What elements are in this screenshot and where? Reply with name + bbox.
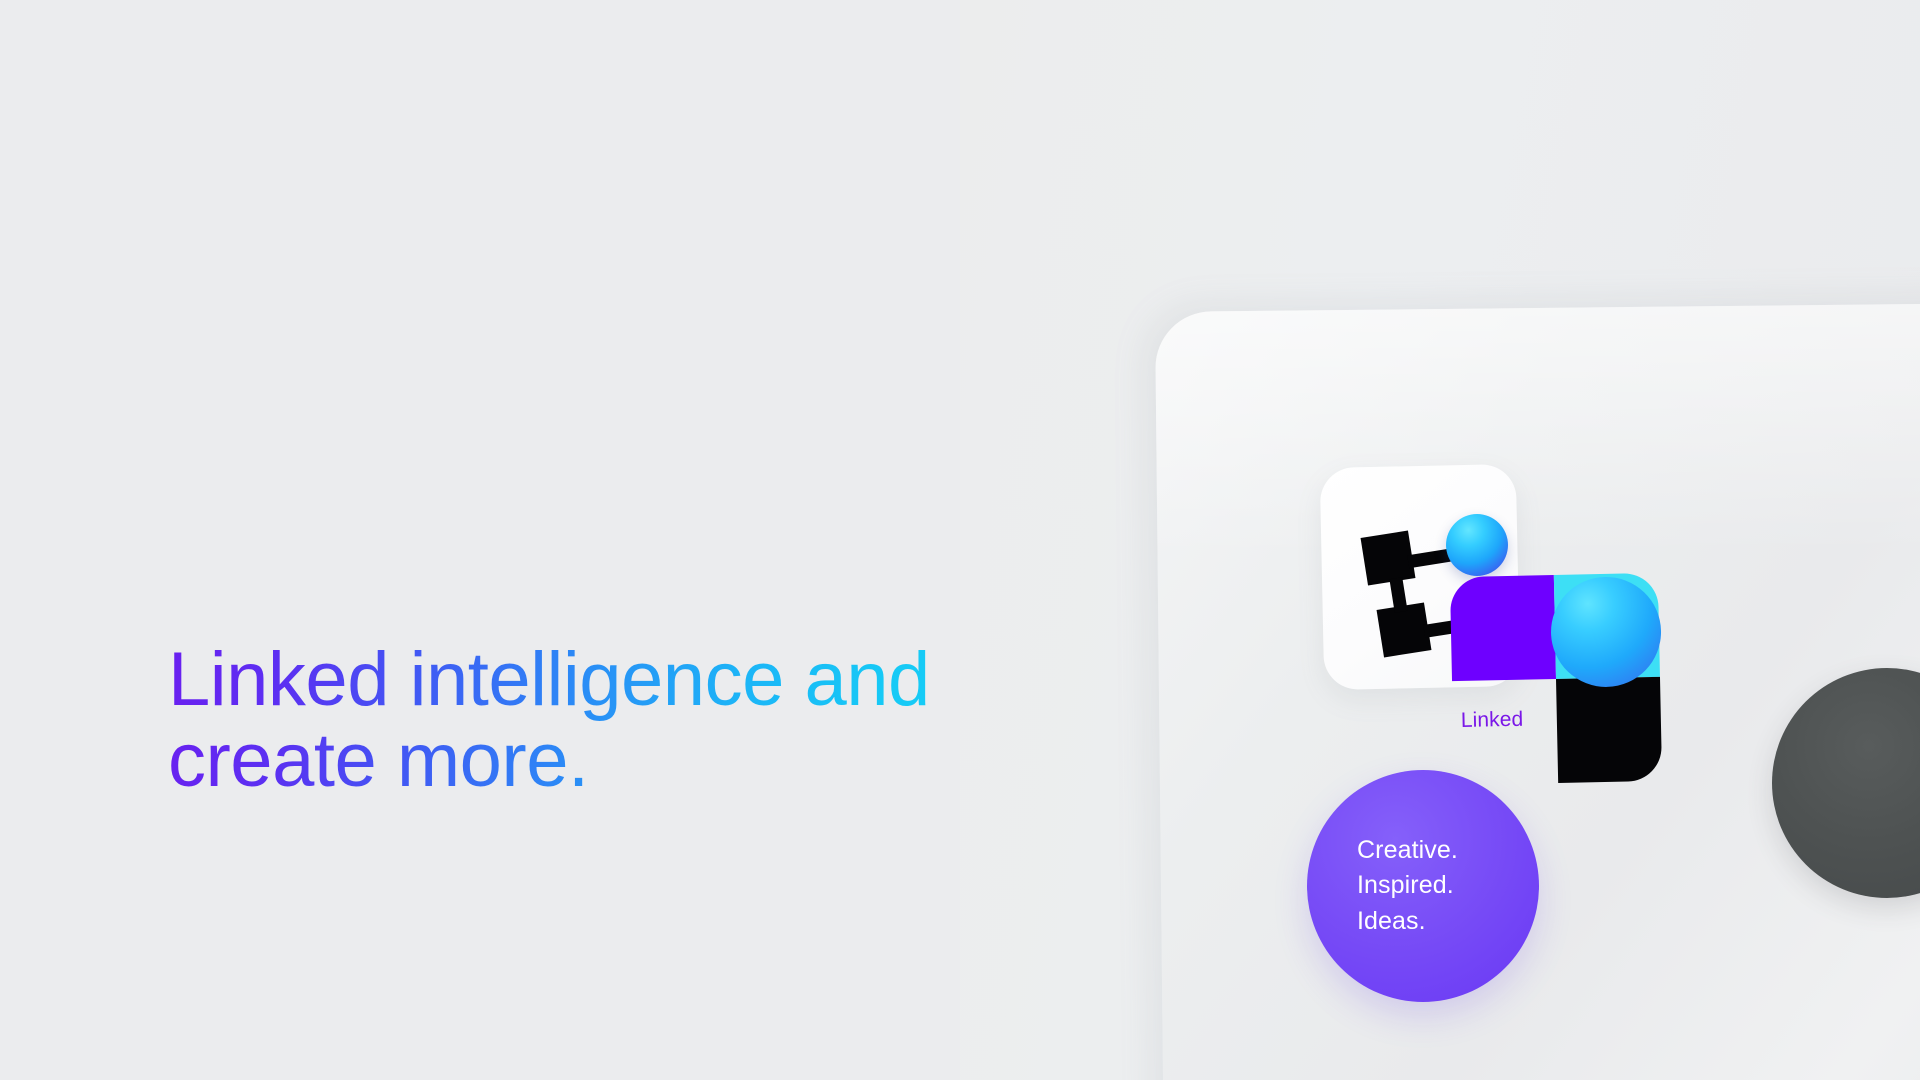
slogan-circle: Creative. Inspired. Ideas. bbox=[1307, 770, 1539, 1002]
tile-label: Linked bbox=[1461, 708, 1524, 733]
node-connector-top-icon bbox=[1407, 549, 1451, 568]
slogan-text: Creative. Inspired. Ideas. bbox=[1357, 833, 1458, 940]
node-sphere-icon bbox=[1446, 514, 1508, 576]
tile-quadrant-bottom-right bbox=[1556, 677, 1662, 783]
brand-tile: Linked bbox=[1450, 573, 1662, 785]
page-root: Linked Creative. Inspired. Ideas. Linked… bbox=[0, 0, 1920, 1080]
page-title: Linked intelligence and create more. bbox=[168, 640, 1028, 801]
headline-block: Linked intelligence and create more. bbox=[168, 640, 1028, 801]
tile-quadrant-top-left bbox=[1450, 575, 1556, 681]
